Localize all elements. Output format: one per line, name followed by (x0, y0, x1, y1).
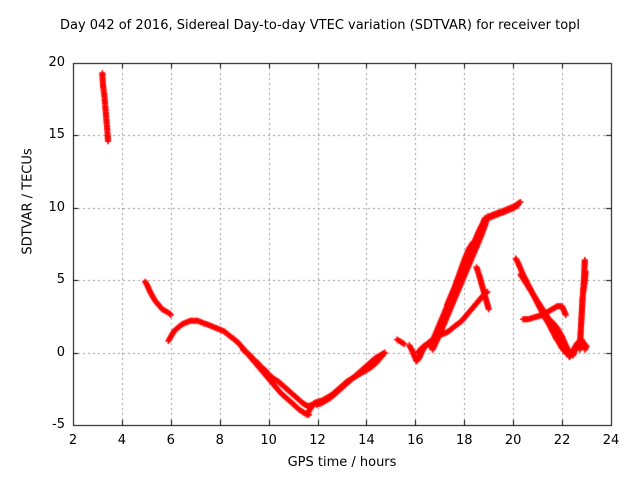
plot-area (0, 0, 640, 480)
x-tick-label: 8 (200, 433, 240, 448)
x-tick-label: 22 (542, 433, 582, 448)
x-tick-label: 2 (53, 433, 93, 448)
x-tick-label: 4 (102, 433, 142, 448)
x-tick-label: 18 (444, 433, 484, 448)
x-tick-label: 20 (493, 433, 533, 448)
y-tick-label: 0 (25, 345, 65, 360)
y-tick-label: 15 (25, 127, 65, 142)
x-tick-label: 14 (346, 433, 386, 448)
y-tick-label: 20 (25, 55, 65, 70)
x-axis-label: GPS time / hours (73, 455, 611, 470)
x-tick-label: 24 (591, 433, 631, 448)
chart-root: Day 042 of 2016, Sidereal Day-to-day VTE… (0, 0, 640, 480)
x-tick-label: 12 (298, 433, 338, 448)
x-tick-label: 6 (151, 433, 191, 448)
y-tick-label: 10 (25, 200, 65, 215)
x-tick-label: 10 (249, 433, 289, 448)
y-tick-label: -5 (25, 417, 65, 432)
x-tick-label: 16 (395, 433, 435, 448)
y-tick-label: 5 (25, 272, 65, 287)
